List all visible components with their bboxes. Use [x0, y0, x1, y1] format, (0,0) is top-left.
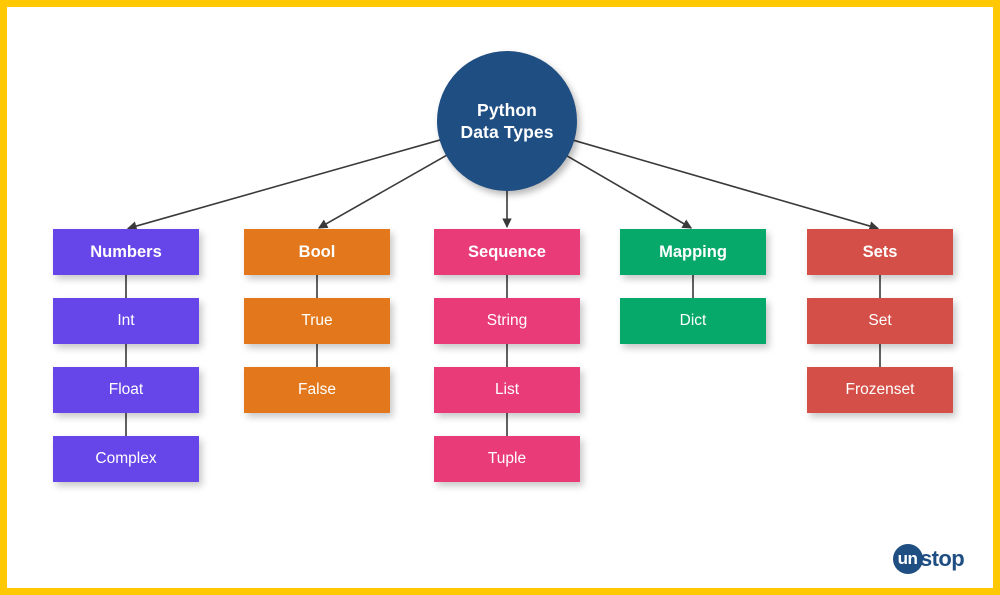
root-node-label-line1: Python [477, 99, 537, 121]
diagram-canvas: Python Data Types NumbersIntFloatComplex… [0, 0, 1000, 595]
type-node-numbers-complex[interactable]: Complex [53, 436, 199, 482]
column-sequence: SequenceStringListTuple [434, 229, 580, 505]
root-node-python-data-types: Python Data Types [437, 51, 577, 191]
type-node-bool-true[interactable]: True [244, 298, 390, 344]
type-node-sets-set[interactable]: Set [807, 298, 953, 344]
column-mapping: MappingDict [620, 229, 766, 367]
type-node-numbers-int[interactable]: Int [53, 298, 199, 344]
unstop-logo-wordmark: stop [920, 548, 964, 570]
type-node-numbers-float[interactable]: Float [53, 367, 199, 413]
column-numbers: NumbersIntFloatComplex [53, 229, 199, 505]
root-node-label-line2: Data Types [460, 121, 553, 143]
unstop-logo-mark: un [893, 544, 923, 574]
type-node-sets-frozenset[interactable]: Frozenset [807, 367, 953, 413]
connector-root-to-sets [573, 140, 878, 228]
type-node-sequence-string[interactable]: String [434, 298, 580, 344]
category-header-bool[interactable]: Bool [244, 229, 390, 275]
type-node-sequence-tuple[interactable]: Tuple [434, 436, 580, 482]
diagram-stage: Python Data Types NumbersIntFloatComplex… [7, 7, 993, 588]
category-header-numbers[interactable]: Numbers [53, 229, 199, 275]
type-node-mapping-dict[interactable]: Dict [620, 298, 766, 344]
column-bool: BoolTrueFalse [244, 229, 390, 436]
connector-root-to-mapping [567, 156, 692, 228]
connector-root-to-bool [319, 155, 447, 228]
category-header-sets[interactable]: Sets [807, 229, 953, 275]
connector-root-to-numbers [128, 140, 441, 229]
type-node-bool-false[interactable]: False [244, 367, 390, 413]
unstop-logo: un stop [893, 544, 964, 574]
category-header-mapping[interactable]: Mapping [620, 229, 766, 275]
column-sets: SetsSetFrozenset [807, 229, 953, 436]
type-node-sequence-list[interactable]: List [434, 367, 580, 413]
category-header-sequence[interactable]: Sequence [434, 229, 580, 275]
